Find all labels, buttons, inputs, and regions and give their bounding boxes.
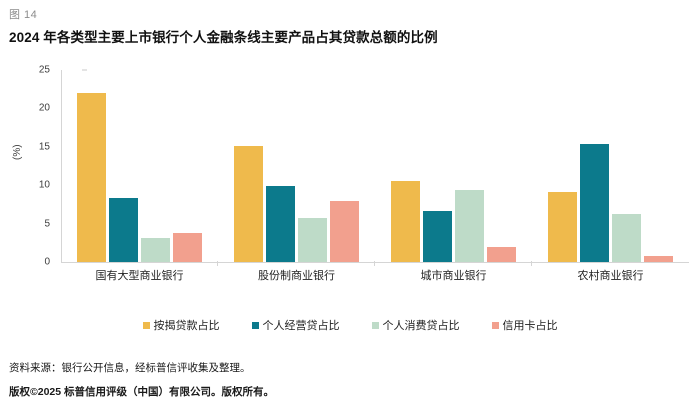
legend-item[interactable]: 个人消费贷占比	[372, 317, 460, 333]
bar[interactable]	[612, 214, 641, 262]
legend-label: 个人消费贷占比	[383, 317, 460, 333]
y-axis-tick-label: 0	[44, 257, 50, 268]
chart-legend: 按揭贷款占比个人经营贷占比个人消费贷占比信用卡占比	[0, 317, 700, 333]
legend-item[interactable]: 个人经营贷占比	[252, 317, 340, 333]
y-axis-tick-label: 15	[39, 141, 50, 152]
bar[interactable]	[234, 146, 263, 262]
x-axis-category-label: 城市商业银行	[375, 267, 532, 283]
bar-group	[218, 70, 375, 262]
y-axis-tick-labels: 0510152025	[26, 70, 50, 262]
bar[interactable]	[77, 93, 106, 262]
copyright-note: 版权©2025 标普信用评级（中国）有限公司。版权所有。	[9, 384, 689, 399]
bar[interactable]	[266, 186, 295, 262]
bar-group-bars	[218, 70, 375, 262]
x-axis-line	[61, 262, 689, 263]
bar[interactable]	[580, 144, 609, 262]
x-axis-category-labels: 国有大型商业银行股份制商业银行城市商业银行农村商业银行	[61, 267, 689, 283]
bar[interactable]	[644, 256, 673, 262]
legend-swatch-icon	[372, 322, 379, 329]
legend-label: 信用卡占比	[503, 317, 558, 333]
legend-label: 个人经营贷占比	[263, 317, 340, 333]
y-axis-tick-label: 10	[39, 180, 50, 191]
bar-group	[375, 70, 532, 262]
y-axis-tick-label: 25	[39, 65, 50, 76]
bar-group	[532, 70, 689, 262]
bar[interactable]	[548, 192, 577, 262]
page-title: 2024 年各类型主要上市银行个人金融条线主要产品占其贷款总额的比例	[9, 26, 438, 46]
legend-item[interactable]: 按揭贷款占比	[143, 317, 220, 333]
bar[interactable]	[173, 233, 202, 262]
legend-item[interactable]: 信用卡占比	[492, 317, 558, 333]
figure-label: 图 14	[9, 6, 37, 22]
bar[interactable]	[487, 247, 516, 262]
bar[interactable]	[109, 198, 138, 262]
legend-label: 按揭贷款占比	[154, 317, 220, 333]
legend-swatch-icon	[492, 322, 499, 329]
legend-swatch-icon	[143, 322, 150, 329]
bar[interactable]	[455, 190, 484, 262]
x-axis-category-label: 农村商业银行	[532, 267, 689, 283]
bar-group-bars	[375, 70, 532, 262]
y-axis-tick-label: 20	[39, 103, 50, 114]
x-axis-category-label: 股份制商业银行	[218, 267, 375, 283]
bar[interactable]	[330, 201, 359, 262]
bar[interactable]	[423, 211, 452, 262]
y-axis-tick-label: 5	[44, 218, 50, 229]
source-note: 资料来源：银行公开信息，经标普信评收集及整理。	[9, 360, 689, 375]
bar-chart: (%) 0510152025 国有大型商业银行股份制商业银行城市商业银行农村商业…	[0, 62, 700, 302]
bar-group	[61, 70, 218, 262]
bar[interactable]	[141, 238, 170, 262]
x-axis-category-label: 国有大型商业银行	[61, 267, 218, 283]
bar[interactable]	[298, 218, 327, 262]
bar-groups	[61, 70, 689, 262]
footer: 资料来源：银行公开信息，经标普信评收集及整理。 版权©2025 标普信用评级（中…	[9, 360, 689, 408]
bar[interactable]	[391, 181, 420, 262]
y-axis-title: (%)	[12, 144, 23, 160]
legend-swatch-icon	[252, 322, 259, 329]
bar-group-bars	[61, 70, 218, 262]
bar-group-bars	[532, 70, 689, 262]
